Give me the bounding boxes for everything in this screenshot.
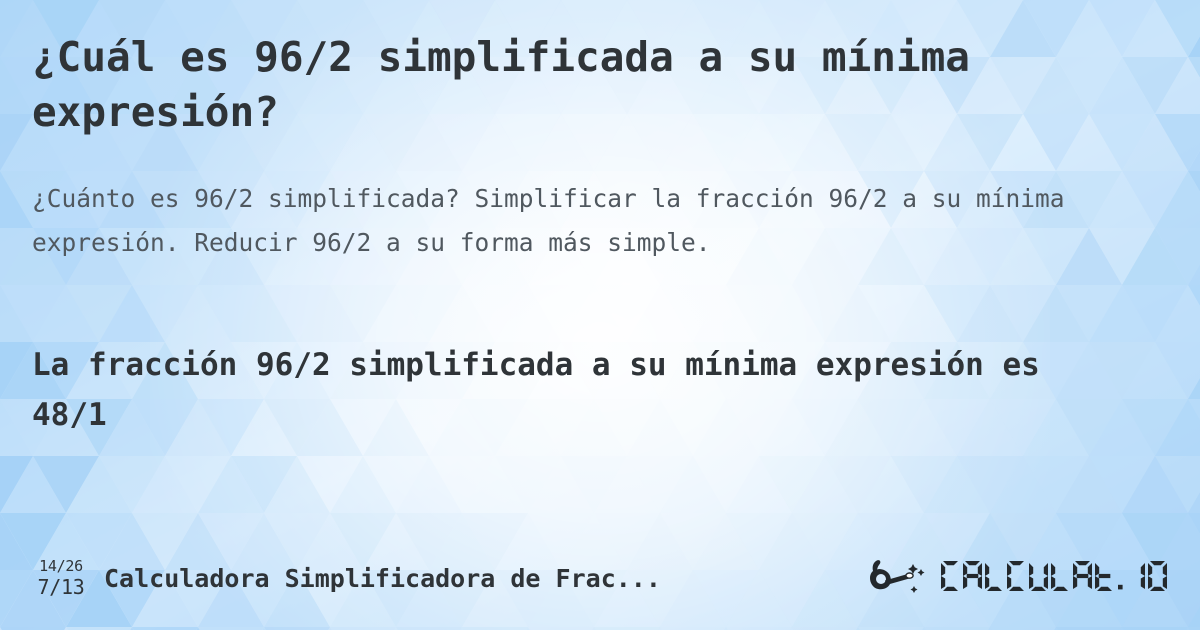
page-title: ¿Cuál es 96/2 simplificada a su mínima e… xyxy=(32,30,1052,140)
fraction-icon-bottom: 7/13 xyxy=(38,577,85,597)
fraction-simplify-icon: 14/26 7/13 xyxy=(32,559,90,597)
share-card: ¿Cuál es 96/2 simplificada a su mínima e… xyxy=(0,0,1200,630)
hand-magic-wand-icon xyxy=(869,558,931,598)
footer: 14/26 7/13 Calculadora Simplificadora de… xyxy=(0,552,1200,604)
answer-statement: La fracción 96/2 simplificada a su mínim… xyxy=(32,340,1062,440)
brand-logo[interactable] xyxy=(869,558,1172,598)
footer-section-title: Calculadora Simplificadora de Frac... xyxy=(104,564,869,593)
brand-name xyxy=(939,559,1172,597)
fraction-icon-top: 14/26 xyxy=(39,559,83,574)
page-description: ¿Cuánto es 96/2 simplificada? Simplifica… xyxy=(32,177,1142,265)
